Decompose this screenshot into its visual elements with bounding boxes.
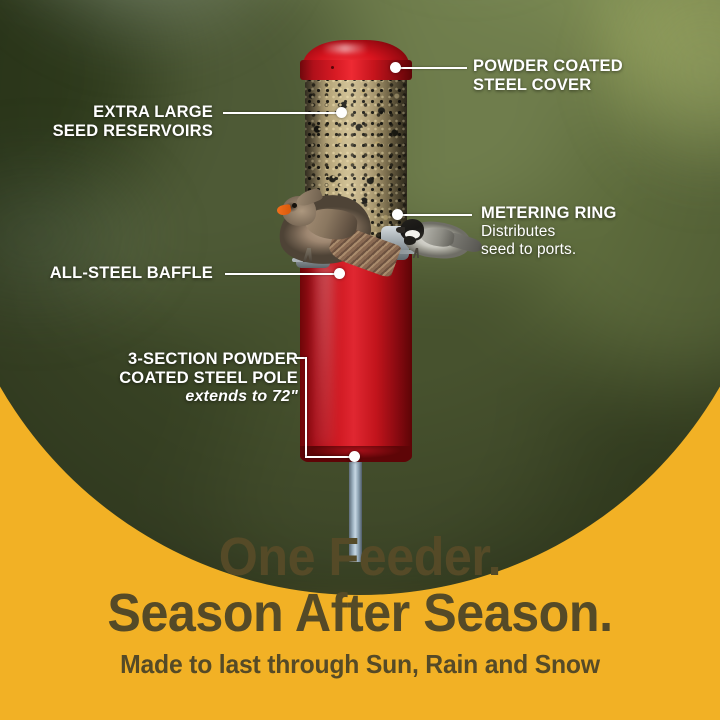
callout-title-line2: STEEL COVER: [473, 76, 591, 94]
callout-title-line2: SEED RESERVOIRS: [53, 122, 213, 140]
leader-line-pole-bottom: [305, 456, 353, 458]
chickadee-beak: [396, 227, 405, 233]
callout-sub-line1: Distributes: [481, 223, 617, 241]
leader-dot-pole: [349, 451, 360, 462]
chickadee-bib: [404, 236, 416, 245]
callout-title: METERING RING: [481, 204, 617, 222]
leader-dot-reservoirs: [336, 107, 347, 118]
cover-highlight: [322, 44, 368, 53]
subheadline: Made to last through Sun, Rain and Snow: [18, 649, 702, 680]
leader-line-pole-vertical: [305, 357, 307, 457]
headline-line-2: Season After Season.: [25, 586, 695, 642]
leader-line-baffle: [225, 273, 339, 275]
callout-title: ALL-STEEL BAFFLE: [50, 264, 213, 282]
callout-title: 3-SECTION POWDER: [128, 350, 298, 368]
cover-screw: [331, 66, 334, 69]
leader-line-cover: [397, 67, 467, 69]
callout-all-steel-baffle: ALL-STEEL BAFFLE: [0, 264, 213, 283]
headline: One Feeder. Season After Season.: [25, 530, 695, 641]
headline-line-1: One Feeder.: [219, 527, 501, 587]
callout-three-section-pole: 3-SECTION POWDER COATED STEEL POLE exten…: [60, 350, 298, 407]
leader-dot-cover: [390, 62, 401, 73]
callout-extra-large-seed-reservoirs: EXTRA LARGE SEED RESERVOIRS: [0, 103, 213, 141]
baffle-highlight: [316, 262, 334, 446]
callout-italic-note: extends to 72": [60, 388, 298, 407]
infographic-canvas: POWDER COATED STEEL COVER EXTRA LARGE SE…: [0, 0, 720, 720]
leader-line-metering-ring: [400, 214, 472, 216]
callout-title: POWDER COATED: [473, 57, 623, 75]
callout-metering-ring: METERING RING Distributes seed to ports.: [481, 204, 617, 259]
bottom-message-block: One Feeder. Season After Season. Made to…: [0, 530, 720, 720]
leader-dot-baffle: [334, 268, 345, 279]
leader-line-reservoirs: [223, 112, 341, 114]
callout-sub-line2: seed to ports.: [481, 241, 617, 259]
callout-powder-coated-steel-cover: POWDER COATED STEEL COVER: [473, 57, 623, 95]
cardinal-eye: [292, 203, 297, 208]
callout-title-line2: COATED STEEL POLE: [119, 369, 298, 387]
leader-dot-metering-ring: [392, 209, 403, 220]
callout-title: EXTRA LARGE: [93, 103, 213, 121]
